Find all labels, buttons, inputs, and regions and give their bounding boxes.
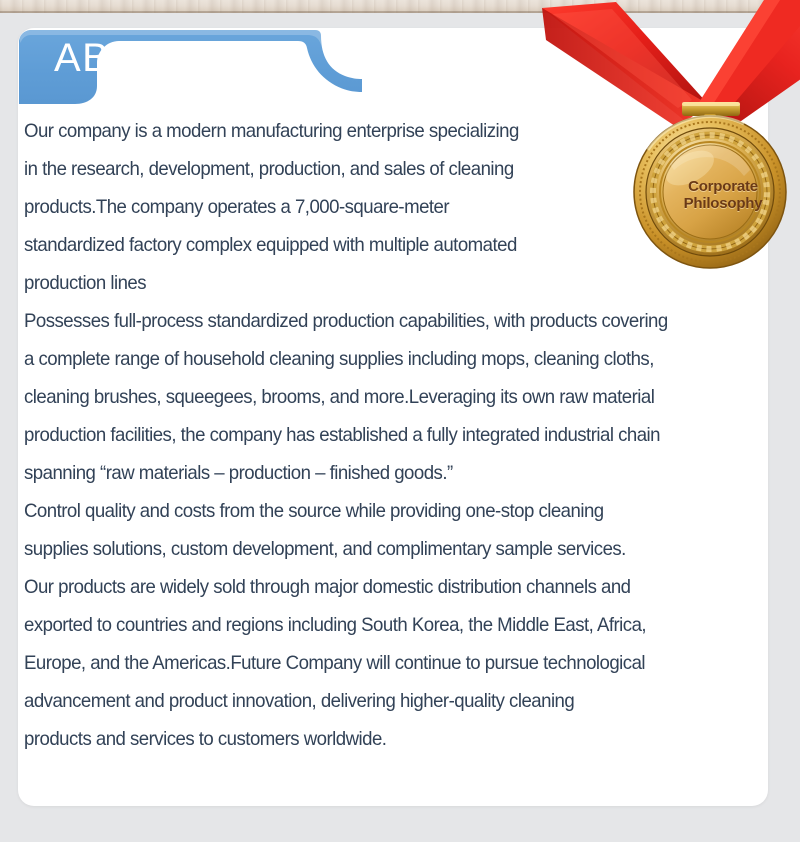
copy-line: Possesses full-process standardized prod… — [24, 302, 742, 340]
copy-line: production facilities, the company has e… — [24, 416, 742, 454]
copy-line: Our products are widely sold through maj… — [24, 568, 742, 606]
copy-line: products and services to customers world… — [24, 720, 742, 758]
copy-line: Control quality and costs from the sourc… — [24, 492, 742, 530]
wood-texture-strip — [0, 0, 800, 13]
medal-caption-line-2: Philosophy — [664, 195, 782, 212]
copy-line: supplies solutions, custom development, … — [24, 530, 742, 568]
paragraph-2: Possesses full-process standardized prod… — [24, 302, 776, 492]
copy-line: Europe, and the Americas.Future Company … — [24, 644, 742, 682]
copy-line: in the research, development, production… — [24, 150, 742, 188]
copy-line: Our company is a modern manufacturing en… — [24, 112, 742, 150]
copy-line: exported to countries and regions includ… — [24, 606, 742, 644]
copy-line: a complete range of household cleaning s… — [24, 340, 742, 378]
copy-line: advancement and product innovation, deli… — [24, 682, 742, 720]
copy-line: products.The company operates a 7,000-sq… — [24, 188, 742, 226]
medal-caption-line-1: Corporate — [664, 178, 782, 195]
page-title: ABOUT US — [54, 36, 270, 80]
medal-caption: Corporate Philosophy — [664, 178, 782, 212]
copy-line: production lines — [24, 264, 742, 302]
copy-line: cleaning brushes, squeegees, brooms, and… — [24, 378, 742, 416]
copy-line: standardized factory complex equipped wi… — [24, 226, 742, 264]
paragraph-3: Control quality and costs from the sourc… — [24, 492, 776, 758]
copy-line: spanning “raw materials – production – f… — [24, 454, 742, 492]
